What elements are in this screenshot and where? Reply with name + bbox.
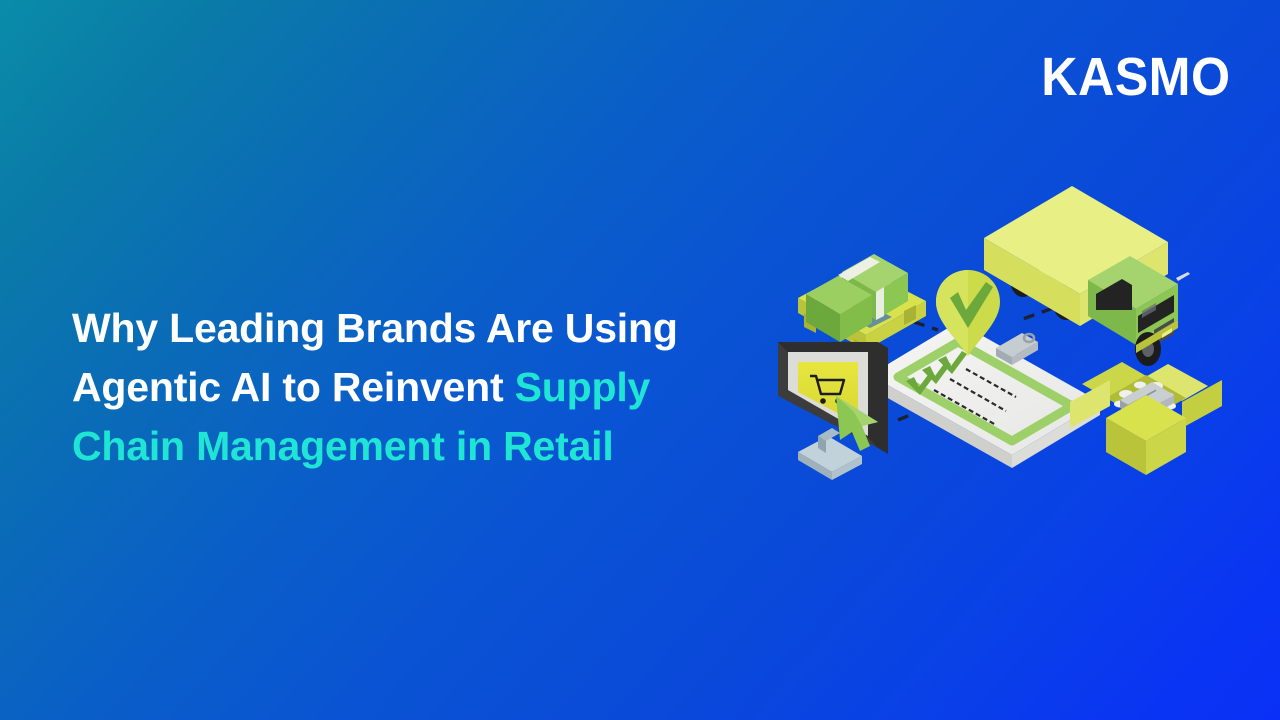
headline-line-3-highlight: Chain Management in Retail	[72, 423, 614, 469]
headline-line-2-highlight: Supply	[515, 364, 650, 410]
monitor-stand	[798, 428, 862, 480]
headline-line-1: Why Leading Brands Are Using	[72, 305, 678, 351]
page-title: Why Leading Brands Are Using Agentic AI …	[72, 299, 762, 476]
monitor-node	[778, 342, 888, 480]
headline-line-2-plain: Agentic AI to Reinvent	[72, 364, 515, 410]
kasmo-logo: KASMO	[1041, 50, 1230, 104]
supply-chain-illustration	[770, 170, 1240, 500]
promo-banner: KASMO Why Leading Brands Are Using Agent…	[0, 0, 1280, 720]
